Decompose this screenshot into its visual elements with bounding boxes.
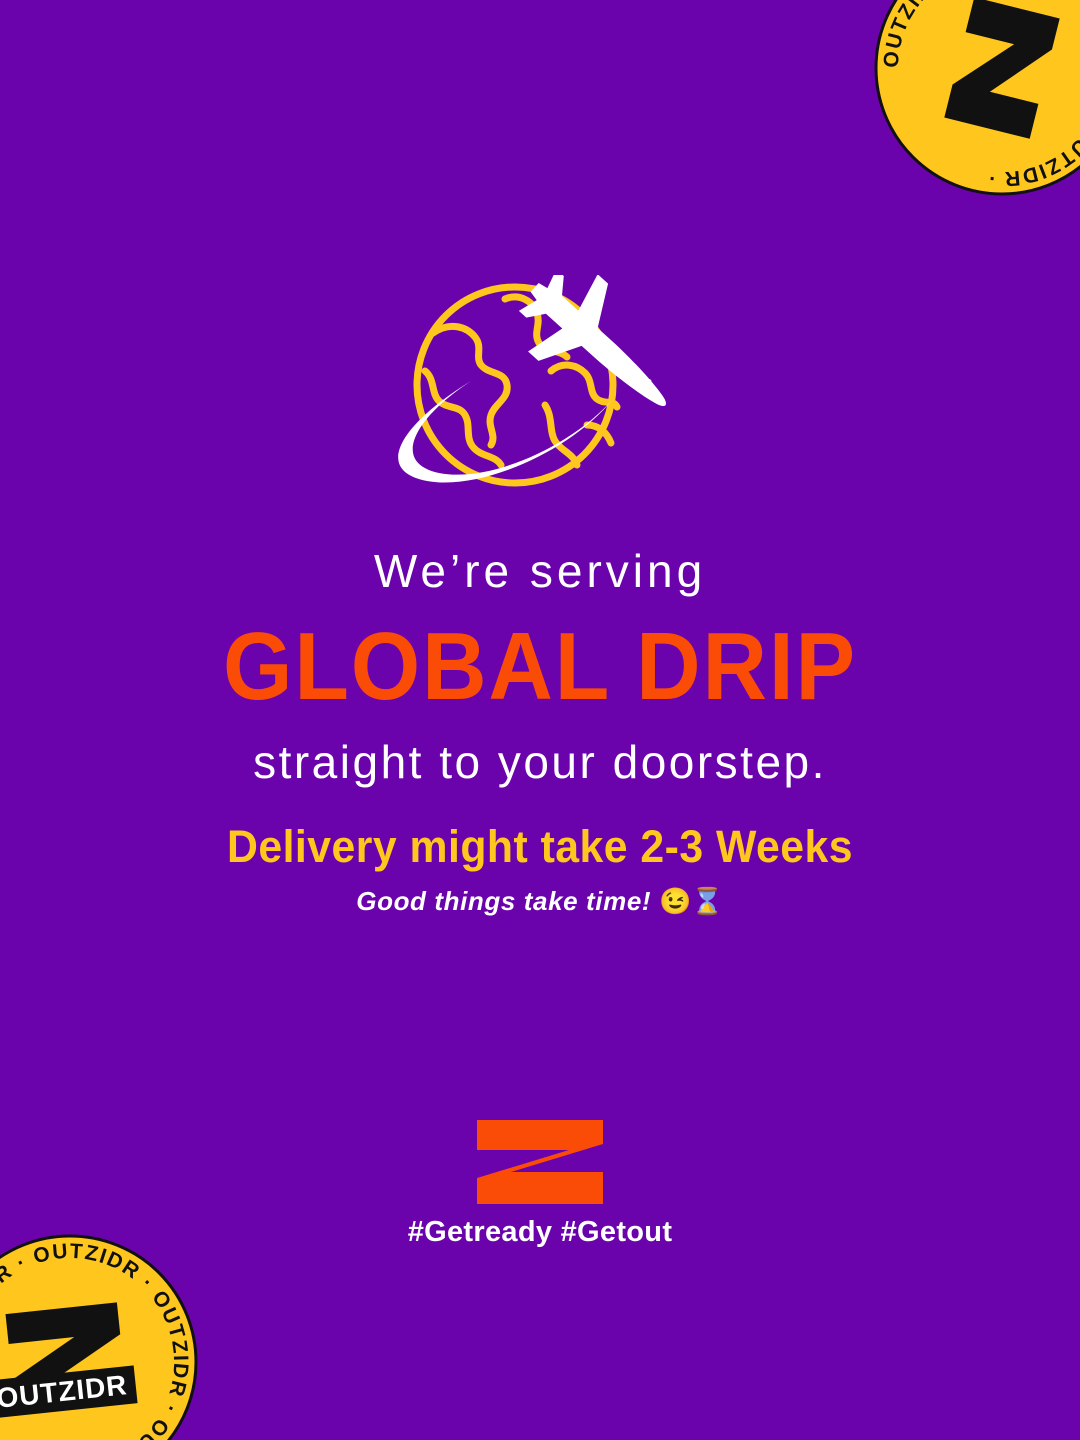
tagline-line-1: We’re serving bbox=[0, 548, 1080, 594]
outzidr-z-logo bbox=[477, 1120, 603, 1204]
outzidr-badge-bottom-left: OUTZIDR · OUTZIDR · OUTZIDR · OUTZIDR · … bbox=[0, 1232, 200, 1440]
delivery-notice-block: Delivery might take 2-3 Weeks Good thing… bbox=[0, 822, 1080, 917]
footer-block: #Getready #Getout bbox=[0, 1120, 1080, 1249]
delivery-subnote: Good things take time! 😉⌛ bbox=[0, 872, 1080, 917]
page-title: GLOBAL DRIP bbox=[38, 594, 1042, 725]
tagline-line-3: straight to your doorstep. bbox=[0, 725, 1080, 785]
outzidr-badge-top-right: OUTZIDR · OUTZIDR · OUTZIDR · OUTZIDR · bbox=[872, 0, 1080, 198]
delivery-notice: Delivery might take 2-3 Weeks bbox=[27, 822, 1053, 872]
headline-block: We’re serving GLOBAL DRIP straight to yo… bbox=[0, 548, 1080, 785]
wink-hourglass-emoji: 😉⌛ bbox=[659, 886, 724, 916]
hashtags: #Getready #Getout bbox=[0, 1204, 1080, 1249]
delivery-subnote-text: Good things take time! bbox=[356, 886, 651, 916]
poster-canvas: OUTZIDR · OUTZIDR · OUTZIDR · OUTZIDR · … bbox=[0, 0, 1080, 1440]
globe-with-airplane-icon bbox=[355, 275, 715, 515]
